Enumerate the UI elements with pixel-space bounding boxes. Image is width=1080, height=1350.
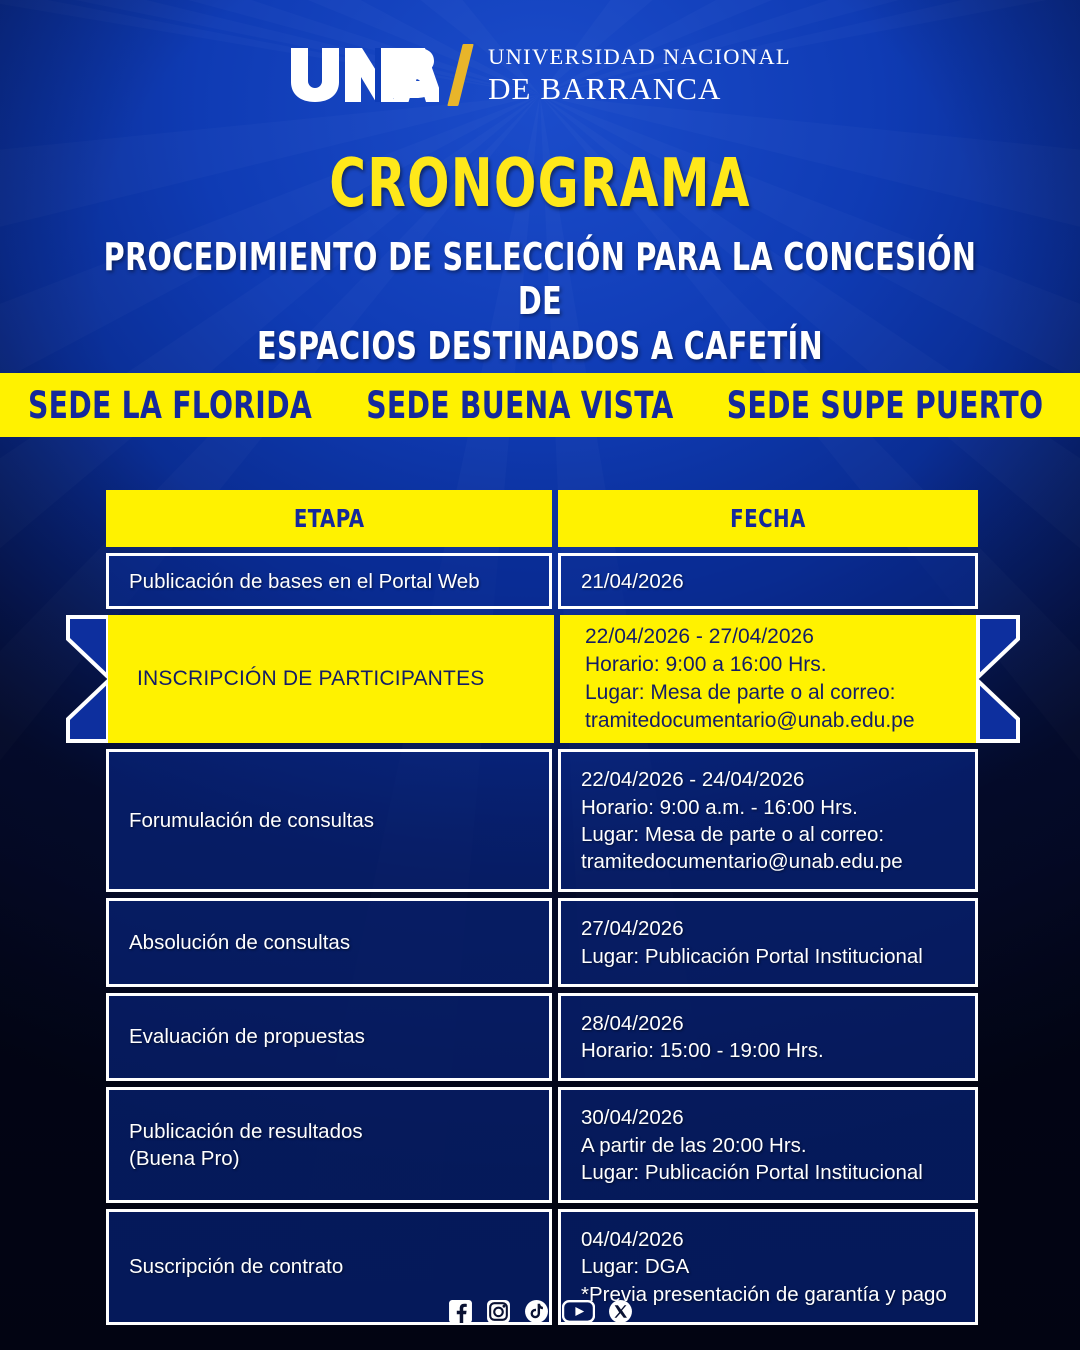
fecha-line: A partir de las 20:00 Hrs. xyxy=(581,1132,955,1159)
cell-fecha: 21/04/2026 xyxy=(558,553,978,609)
table-header-row: ETAPA FECHA xyxy=(106,490,978,547)
cell-fecha: 30/04/2026 A partir de las 20:00 Hrs. Lu… xyxy=(558,1087,978,1203)
fecha-line: 22/04/2026 - 24/04/2026 xyxy=(581,766,955,793)
etapa-line: Forumulación de consultas xyxy=(129,807,529,834)
etapa-line: INSCRIPCIÓN DE PARTICIPANTES xyxy=(137,665,485,693)
page-subtitle: PROCEDIMIENTO DE SELECCIÓN PARA LA CONCE… xyxy=(86,235,993,368)
cell-etapa: Publicación de resultados (Buena Pro) xyxy=(106,1087,552,1203)
unab-logo: UNIVERSIDAD NACIONAL DE BARRANCA xyxy=(0,44,1080,106)
chevron-left-decoration xyxy=(64,615,108,743)
table-row: Absolución de consultas 27/04/2026 Lugar… xyxy=(106,898,978,987)
fecha-line: Horario: 9:00 a.m. - 16:00 Hrs. xyxy=(581,794,955,821)
etapa-line: Evaluación de propuestas xyxy=(129,1023,529,1050)
column-header-fecha: FECHA xyxy=(558,490,978,547)
subtitle-line-2: ESPACIOS DESTINADOS A CAFETÍN xyxy=(86,324,993,368)
page-title: CRONOGRAMA xyxy=(92,150,988,217)
schedule-table: ETAPA FECHA Publicación de bases en el P… xyxy=(106,490,978,1331)
table-row-highlight-slot: INSCRIPCIÓN DE PARTICIPANTES 22/04/2026 … xyxy=(106,615,978,749)
fecha-line: Lugar: DGA xyxy=(581,1253,955,1280)
column-header-fecha-label: FECHA xyxy=(730,502,806,535)
logo-line-1: UNIVERSIDAD NACIONAL xyxy=(488,46,791,69)
highlight-row-wrapper: INSCRIPCIÓN DE PARTICIPANTES 22/04/2026 … xyxy=(64,615,1020,743)
cell-etapa-highlight: INSCRIPCIÓN DE PARTICIPANTES xyxy=(108,615,554,743)
etapa-line: Publicación de bases en el Portal Web xyxy=(129,568,529,595)
tiktok-icon[interactable] xyxy=(524,1299,549,1324)
fecha-line: Lugar: Mesa de parte o al correo: xyxy=(585,679,953,707)
table-row: Forumulación de consultas 22/04/2026 - 2… xyxy=(106,749,978,892)
fecha-line: Lugar: Publicación Portal Institucional xyxy=(581,1159,955,1186)
fecha-line: 27/04/2026 xyxy=(581,915,955,942)
cell-etapa: Evaluación de propuestas xyxy=(106,993,552,1082)
cell-fecha: 22/04/2026 - 24/04/2026 Horario: 9:00 a.… xyxy=(558,749,978,892)
facebook-icon[interactable] xyxy=(448,1299,473,1324)
unab-wordmark-icon xyxy=(289,46,439,104)
fecha-line: tramitedocumentario@unab.edu.pe xyxy=(581,848,955,875)
youtube-icon[interactable] xyxy=(562,1299,595,1324)
table-row: Publicación de bases en el Portal Web 21… xyxy=(106,553,978,609)
fecha-line: Lugar: Mesa de parte o al correo: xyxy=(581,821,955,848)
cell-fecha-highlight: 22/04/2026 - 27/04/2026 Horario: 9:00 a … xyxy=(560,615,976,743)
logo-slash-divider xyxy=(447,44,473,106)
cell-etapa: Publicación de bases en el Portal Web xyxy=(106,553,552,609)
fecha-line: Lugar: Publicación Portal Institucional xyxy=(581,943,955,970)
column-header-etapa: ETAPA xyxy=(106,490,552,547)
sede-item-buena-vista: SEDE BUENA VISTA xyxy=(366,384,664,427)
logo-line-2: DE BARRANCA xyxy=(488,73,791,104)
logo-university-name: UNIVERSIDAD NACIONAL DE BARRANCA xyxy=(488,46,791,104)
etapa-line: Publicación de resultados xyxy=(129,1118,529,1145)
sede-item-la-florida: SEDE LA FLORIDA xyxy=(26,384,315,427)
fecha-line: Horario: 15:00 - 19:00 Hrs. xyxy=(581,1037,955,1064)
sede-item-supe-puerto: SEDE SUPE PUERTO xyxy=(719,384,1051,427)
column-header-etapa-label: ETAPA xyxy=(294,502,365,535)
highlight-row: INSCRIPCIÓN DE PARTICIPANTES 22/04/2026 … xyxy=(108,615,976,743)
fecha-line: tramitedocumentario@unab.edu.pe xyxy=(585,707,953,735)
x-twitter-icon[interactable] xyxy=(608,1299,633,1324)
cell-fecha: 28/04/2026 Horario: 15:00 - 19:00 Hrs. xyxy=(558,993,978,1082)
etapa-line: Suscripción de contrato xyxy=(129,1253,529,1280)
title-block: CRONOGRAMA PROCEDIMIENTO DE SELECCIÓN PA… xyxy=(0,150,1080,368)
fecha-line: 04/04/2026 xyxy=(581,1226,955,1253)
cell-etapa: Forumulación de consultas xyxy=(106,749,552,892)
etapa-line: Absolución de consultas xyxy=(129,929,529,956)
subtitle-line-1: PROCEDIMIENTO DE SELECCIÓN PARA LA CONCE… xyxy=(86,235,993,324)
etapa-line: (Buena Pro) xyxy=(129,1145,529,1172)
fecha-line: 28/04/2026 xyxy=(581,1010,955,1037)
social-links xyxy=(0,1299,1080,1324)
instagram-icon[interactable] xyxy=(486,1299,511,1324)
fecha-line: 22/04/2026 - 27/04/2026 xyxy=(585,623,953,651)
chevron-right-decoration xyxy=(976,615,1020,743)
table-row: Evaluación de propuestas 28/04/2026 Hora… xyxy=(106,993,978,1082)
sede-banner: SEDE LA FLORIDA SEDE BUENA VISTA SEDE SU… xyxy=(0,373,1080,437)
cell-fecha: 27/04/2026 Lugar: Publicación Portal Ins… xyxy=(558,898,978,987)
cell-etapa: Absolución de consultas xyxy=(106,898,552,987)
fecha-line: 30/04/2026 xyxy=(581,1104,955,1131)
fecha-line: Horario: 9:00 a 16:00 Hrs. xyxy=(585,651,953,679)
fecha-line: 21/04/2026 xyxy=(581,568,955,595)
table-row: Publicación de resultados (Buena Pro) 30… xyxy=(106,1087,978,1203)
